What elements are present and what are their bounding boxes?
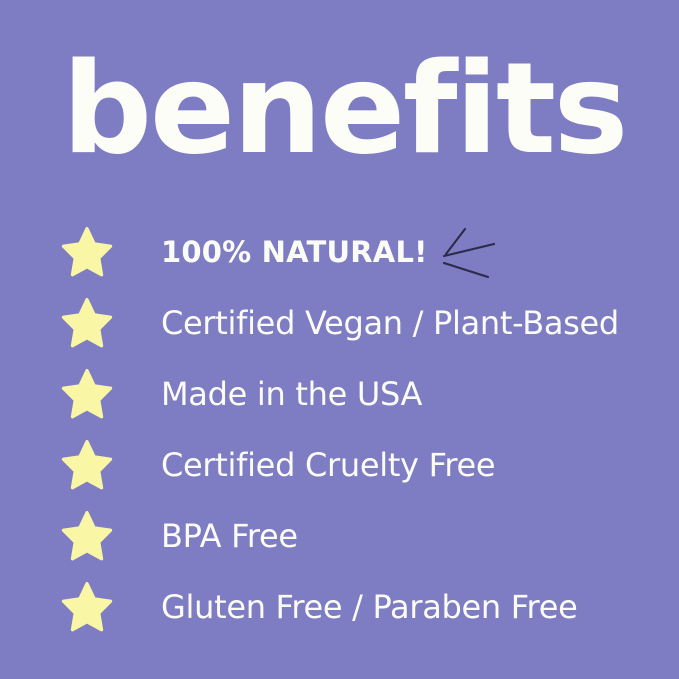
page-title: benefits bbox=[62, 44, 622, 174]
list-item: 100% NATURAL! bbox=[0, 216, 679, 287]
list-item-label: Gluten Free / Paraben Free bbox=[161, 589, 577, 625]
list-item: Made in the USA bbox=[0, 358, 679, 429]
list-item-label: Made in the USA bbox=[161, 376, 422, 412]
list-item: Certified Vegan / Plant-Based bbox=[0, 287, 679, 358]
star-icon bbox=[61, 439, 113, 491]
star-icon bbox=[61, 510, 113, 562]
star-icon bbox=[61, 297, 113, 349]
star-icon bbox=[61, 581, 113, 633]
benefits-poster: benefits 100% NATURAL! Certified Vegan /… bbox=[0, 0, 679, 679]
list-item-label: Certified Vegan / Plant-Based bbox=[161, 305, 619, 341]
star-icon bbox=[61, 368, 113, 420]
list-item: BPA Free bbox=[0, 500, 679, 571]
list-item-label: 100% NATURAL! bbox=[161, 234, 428, 270]
list-item-label: Certified Cruelty Free bbox=[161, 447, 495, 483]
sparkle-lines-icon bbox=[441, 222, 503, 282]
star-icon bbox=[61, 226, 113, 278]
list-item: Certified Cruelty Free bbox=[0, 429, 679, 500]
list-item: Gluten Free / Paraben Free bbox=[0, 571, 679, 642]
benefits-list: 100% NATURAL! Certified Vegan / Plant-Ba… bbox=[0, 216, 679, 642]
list-item-label: BPA Free bbox=[161, 518, 298, 554]
